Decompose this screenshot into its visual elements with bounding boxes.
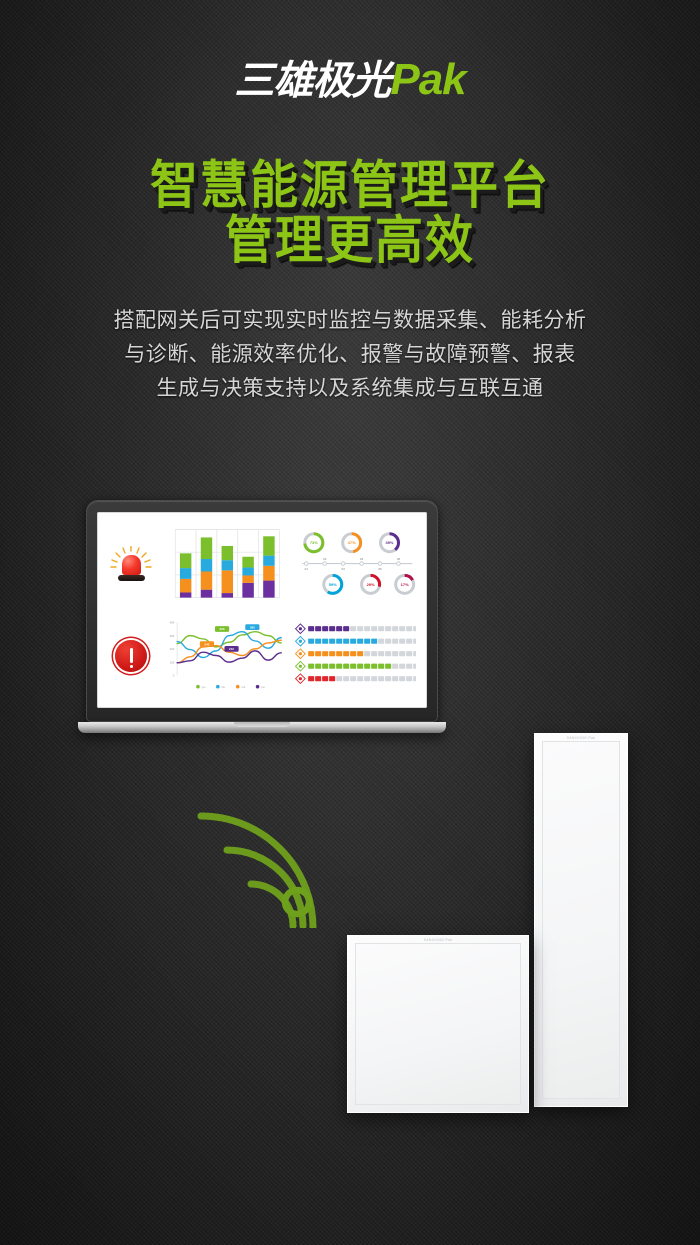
alarm-siren-icon xyxy=(116,548,146,582)
laptop-lid: 01020304050673%47%39%59%29%17% 010020030… xyxy=(86,500,438,722)
svg-text:06: 06 xyxy=(397,557,401,561)
svg-text:blu: blu xyxy=(222,685,226,689)
siren-dome xyxy=(122,555,141,575)
poster-root: 三雄极光Pak 智慧能源管理平台 管理更高效 搭配网关后可实现实时监控与数据采集… xyxy=(0,0,700,1245)
wifi-arcs-icon xyxy=(193,798,338,928)
multi-line-chart: 0100200300400 320355245210 grebluorapur xyxy=(162,612,285,699)
svg-text:0: 0 xyxy=(173,674,175,678)
svg-text:47%: 47% xyxy=(348,540,356,545)
svg-text:05: 05 xyxy=(378,567,382,571)
led-panel-tall-mark: SANXIONG·Pak xyxy=(567,736,595,740)
svg-text:39%: 39% xyxy=(386,540,394,545)
laptop-base xyxy=(78,722,446,733)
svg-text:355: 355 xyxy=(250,625,255,629)
description-block: 搭配网关后可实现实时监控与数据采集、能耗分析 与诊断、能源效率优化、报警与故障预… xyxy=(55,304,645,406)
svg-text:245: 245 xyxy=(204,642,209,646)
svg-text:17%: 17% xyxy=(401,582,409,587)
svg-text:02: 02 xyxy=(323,557,327,561)
headline-line-2: 管理更高效 xyxy=(0,216,700,269)
exclamation-mark xyxy=(130,648,133,663)
wifi-signal-icon xyxy=(193,798,338,928)
svg-text:01: 01 xyxy=(305,567,309,571)
svg-text:03: 03 xyxy=(341,567,345,571)
svg-text:59%: 59% xyxy=(329,582,337,587)
pictogram-waffle-svg xyxy=(293,612,416,699)
svg-text:gre: gre xyxy=(202,685,206,689)
svg-text:04: 04 xyxy=(360,557,364,561)
donut-gauges-chart: 01020304050673%47%39%59%29%17% xyxy=(293,521,416,608)
description-line-2: 与诊断、能源效率优化、报警与故障预警、报表 xyxy=(55,338,645,372)
laptop-base-notch xyxy=(234,722,290,727)
svg-text:400: 400 xyxy=(170,621,175,625)
siren-base xyxy=(118,575,145,581)
description-line-1: 搭配网关后可实现实时监控与数据采集、能耗分析 xyxy=(55,304,645,338)
svg-text:320: 320 xyxy=(220,627,225,631)
description-line-3: 生成与决策支持以及系统集成与互联互通 xyxy=(55,372,645,406)
led-panel-tall: SANXIONG·Pak xyxy=(534,733,628,1107)
led-panel-square-surface: SANXIONG·Pak xyxy=(355,943,521,1105)
laptop-screen: 01020304050673%47%39%59%29%17% 010020030… xyxy=(97,512,427,708)
brand-logo-en: Pak xyxy=(390,55,465,104)
svg-text:100: 100 xyxy=(170,660,175,664)
led-panel-square-mark: SANXIONG·Pak xyxy=(424,938,452,942)
donut-gauges-svg: 01020304050673%47%39%59%29%17% xyxy=(293,521,416,608)
alarm-siren-cell xyxy=(108,548,154,582)
led-panel-square: SANXIONG·Pak xyxy=(347,935,529,1113)
svg-text:210: 210 xyxy=(229,647,234,651)
stacked-bar-chart xyxy=(162,521,285,608)
svg-text:300: 300 xyxy=(170,634,175,638)
svg-text:200: 200 xyxy=(170,647,175,651)
stacked-bar-chart-svg xyxy=(162,521,285,608)
svg-text:pur: pur xyxy=(261,685,265,689)
svg-text:73%: 73% xyxy=(310,540,318,545)
dashboard: 01020304050673%47%39%59%29%17% 010020030… xyxy=(108,521,416,699)
svg-text:ora: ora xyxy=(241,685,245,689)
brand-logo: 三雄极光Pak xyxy=(0,58,700,102)
page-title: 智慧能源管理平台 管理更高效 xyxy=(0,163,700,267)
warning-icon-cell xyxy=(108,640,154,672)
multi-line-chart-svg: 0100200300400 320355245210 grebluorapur xyxy=(162,612,285,699)
headline-line-1: 智慧能源管理平台 xyxy=(0,161,700,214)
laptop-mockup: 01020304050673%47%39%59%29%17% 010020030… xyxy=(78,500,446,733)
led-panel-tall-surface: SANXIONG·Pak xyxy=(542,741,620,1099)
pictogram-waffle-chart xyxy=(293,612,416,699)
warning-exclamation-icon xyxy=(115,640,147,672)
svg-text:29%: 29% xyxy=(367,582,375,587)
brand-logo-cn: 三雄极光 xyxy=(234,59,390,103)
